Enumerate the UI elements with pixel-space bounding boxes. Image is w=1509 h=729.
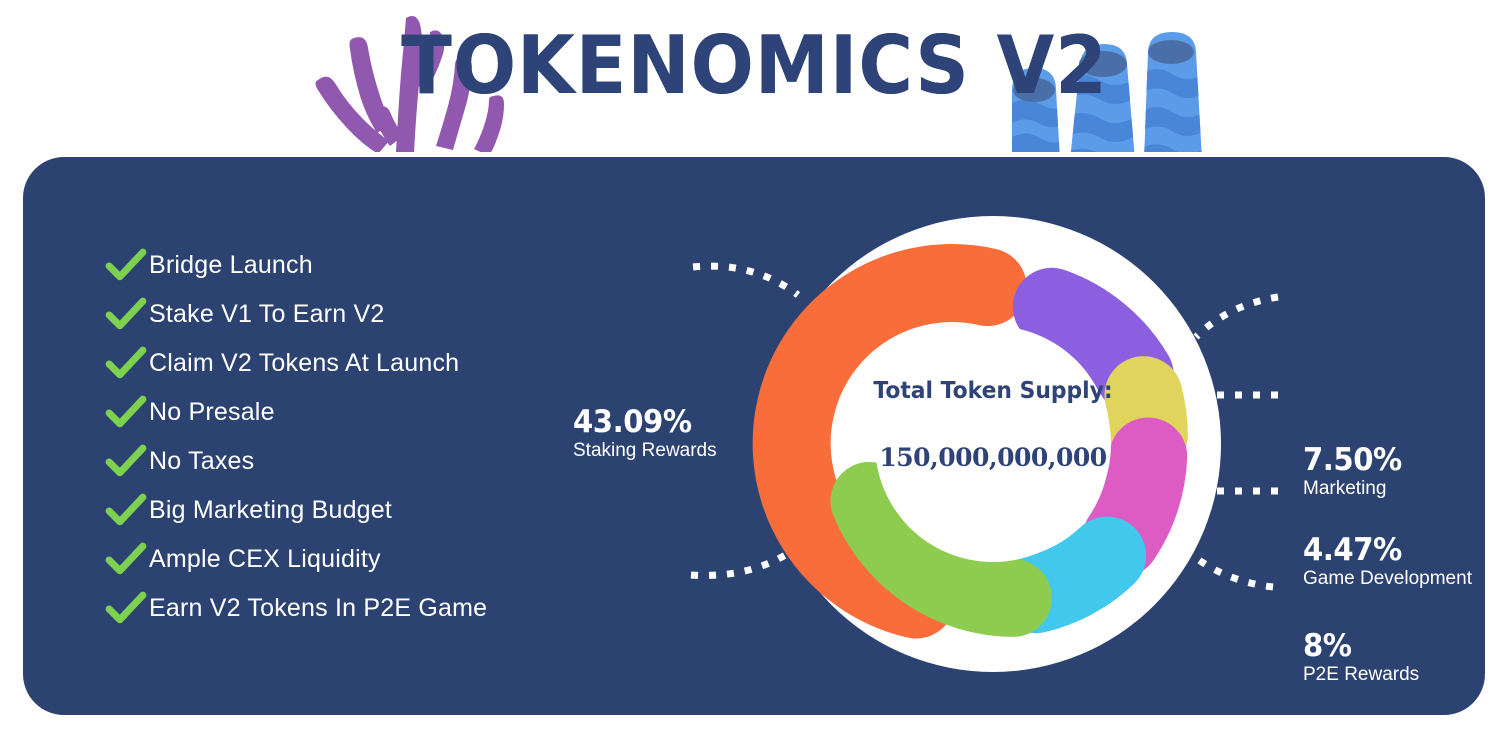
callout-game-development: 4.47% Game Development [1303, 533, 1472, 591]
callout-percentage: 8% [1303, 629, 1412, 663]
callout-label: P2E Rewards [1303, 663, 1419, 687]
donut-center-title: Total Token Supply: [756, 377, 1231, 406]
list-item: Ample CEX Liquidity [103, 535, 573, 584]
check-icon [103, 341, 149, 387]
list-item-label: Bridge Launch [149, 251, 313, 280]
list-item-label: Claim V2 Tokens At Launch [149, 349, 459, 378]
callout-staking-rewards: 43.09% Staking Rewards [573, 405, 717, 463]
donut-center-value: 150,000,000,000 [743, 443, 1243, 472]
list-item: No Presale [103, 388, 573, 437]
check-icon [103, 488, 149, 534]
list-item-label: No Taxes [149, 447, 254, 476]
check-icon [103, 586, 149, 632]
donut-chart: Total Token Supply: 150,000,000,000 [743, 209, 1243, 679]
feature-checklist: Bridge Launch Stake V1 To Earn V2 Claim … [103, 241, 573, 633]
list-item: Stake V1 To Earn V2 [103, 290, 573, 339]
check-icon [103, 243, 149, 289]
callout-cex-liquidity: 10% CEX Liquidity [1303, 719, 1417, 729]
list-item-label: Big Marketing Budget [149, 496, 392, 525]
page-title: TOKENOMICS V2 [53, 24, 1456, 108]
callout-label: Game Development [1303, 567, 1472, 591]
callout-marketing: 7.50% Marketing [1303, 443, 1408, 501]
list-item-label: Stake V1 To Earn V2 [149, 300, 384, 329]
list-item: Bridge Launch [103, 241, 573, 290]
check-icon [103, 537, 149, 583]
callout-label: Staking Rewards [573, 439, 717, 463]
list-item-label: Ample CEX Liquidity [149, 545, 381, 574]
check-icon [103, 439, 149, 485]
list-item: Earn V2 Tokens In P2E Game [103, 584, 573, 633]
callout-percentage: 26.93% [571, 713, 724, 729]
callout-percentage: 10% [1303, 719, 1410, 729]
callout-label: Marketing [1303, 477, 1408, 501]
check-icon [103, 292, 149, 338]
callout-bridged-sponge: 26.93% Bridged $SPONGE [571, 713, 734, 729]
tokenomics-card: Bridge Launch Stake V1 To Earn V2 Claim … [18, 152, 1490, 720]
callout-percentage: 7.50% [1303, 443, 1402, 477]
callout-p2e-rewards: 8% P2E Rewards [1303, 629, 1419, 687]
tokenomics-infographic: TOKENOMICS V2 Bridge Launch Stake V1 To … [0, 0, 1509, 729]
list-item-label: No Presale [149, 398, 275, 427]
callout-percentage: 43.09% [573, 405, 708, 439]
callout-percentage: 4.47% [1303, 533, 1462, 567]
list-item: Claim V2 Tokens At Launch [103, 339, 573, 388]
list-item: Big Marketing Budget [103, 486, 573, 535]
list-item: No Taxes [103, 437, 573, 486]
list-item-label: Earn V2 Tokens In P2E Game [149, 594, 487, 623]
check-icon [103, 390, 149, 436]
header: TOKENOMICS V2 [0, 0, 1509, 160]
